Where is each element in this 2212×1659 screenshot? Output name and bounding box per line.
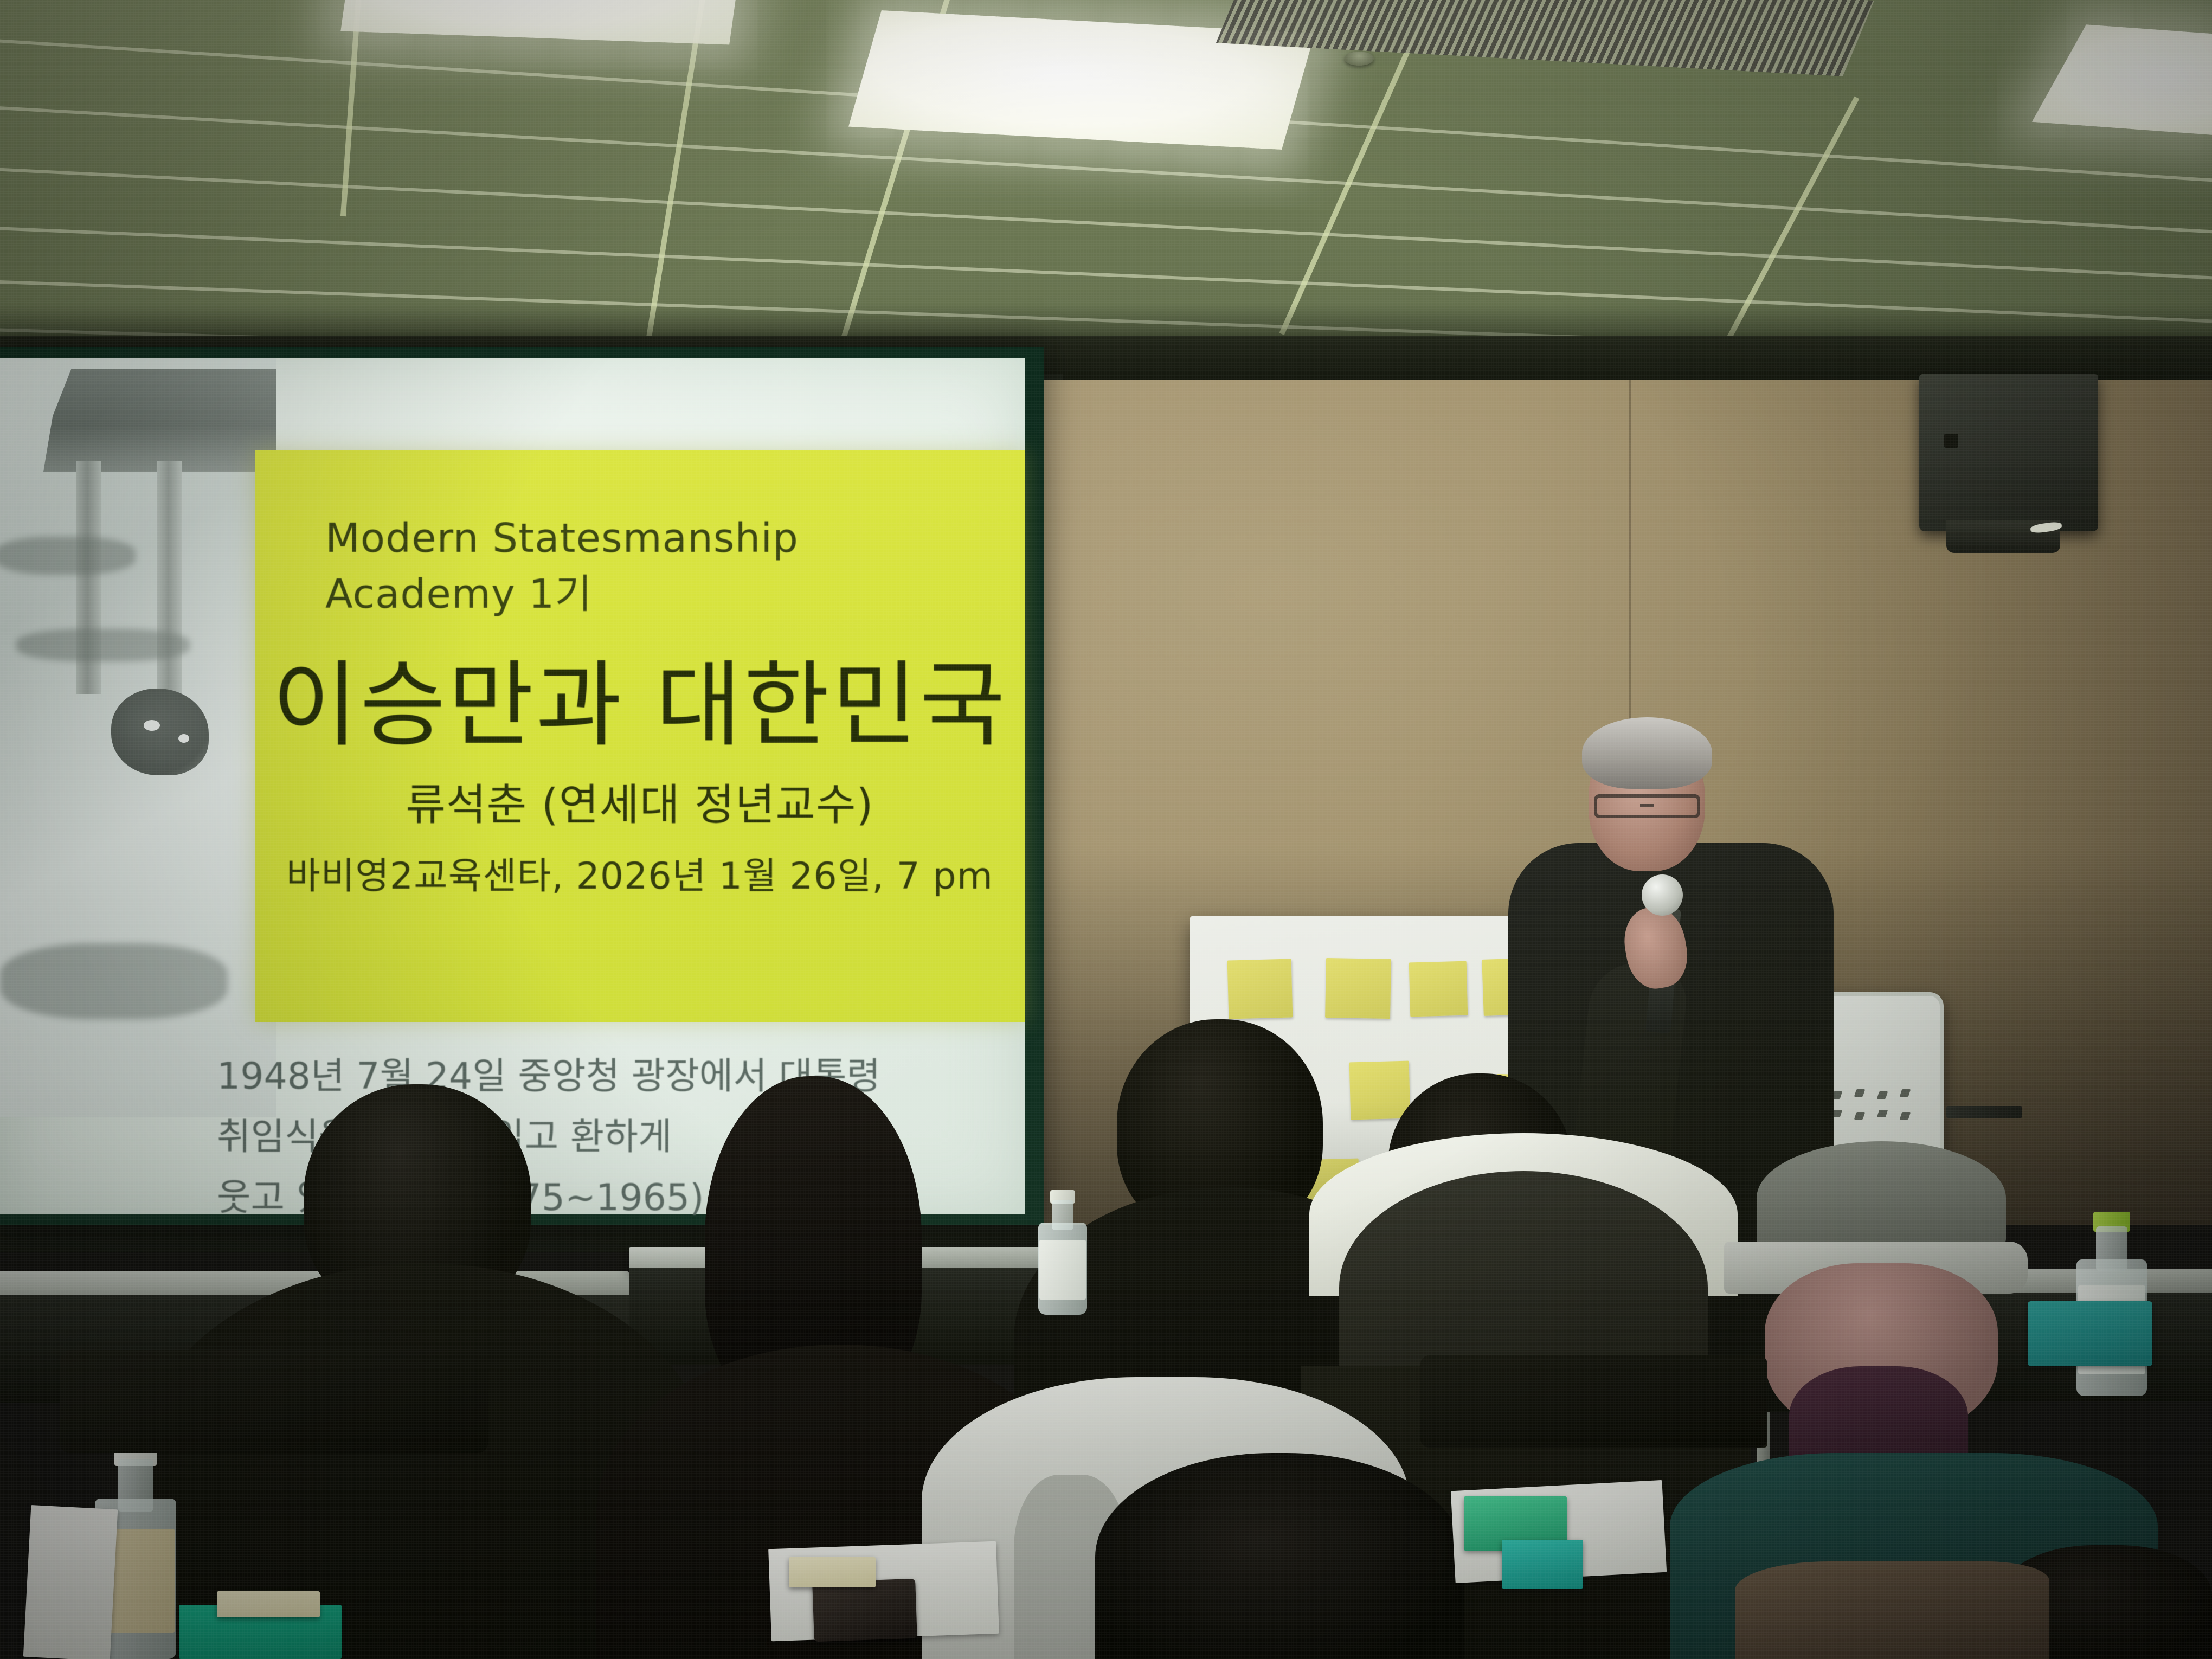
board-mark bbox=[1877, 1110, 1888, 1117]
photo-column bbox=[157, 461, 182, 694]
phone bbox=[812, 1579, 917, 1642]
speaker-hair bbox=[1582, 717, 1712, 789]
slide-title-text: 이승만과 대한민국 bbox=[255, 629, 1025, 764]
bottle-label bbox=[1039, 1240, 1086, 1300]
pa-speaker-icon bbox=[1919, 374, 2098, 531]
paper-sheet bbox=[23, 1505, 118, 1659]
historical-photo bbox=[0, 358, 276, 1117]
cap-icon bbox=[1757, 1141, 2006, 1255]
photo-figure-highlight bbox=[178, 734, 189, 743]
speaker-grille bbox=[1944, 434, 1958, 448]
board-mark bbox=[1900, 1089, 1911, 1097]
smoke-detector-icon bbox=[1345, 52, 1374, 66]
chair-back bbox=[60, 1350, 488, 1453]
ceiling-light-panel bbox=[340, 0, 744, 45]
water-bottle-mid bbox=[1038, 1190, 1087, 1315]
photo-building bbox=[43, 369, 276, 472]
photo-figure-highlight bbox=[144, 720, 160, 731]
microphone-icon bbox=[1642, 874, 1683, 916]
attendee-head bbox=[1095, 1453, 1464, 1659]
bag bbox=[1735, 1561, 2049, 1659]
board-mark bbox=[1900, 1112, 1911, 1120]
sticky-note bbox=[789, 1557, 876, 1587]
drop-ceiling-grid bbox=[0, 0, 2212, 380]
slide-venue-text: 바비영2교육센타, 2026년 1월 26일, 7 pm bbox=[255, 846, 1025, 899]
ceiling-grid-line bbox=[0, 163, 2212, 288]
glasses-icon bbox=[1594, 794, 1700, 818]
photo-smudge bbox=[0, 537, 136, 575]
sticky-note bbox=[217, 1591, 320, 1617]
slide-eyebrow-text: Modern Statesmanship Academy 1기 bbox=[325, 515, 987, 620]
flipchart-arm bbox=[1946, 1106, 2022, 1118]
photo-smudge bbox=[16, 629, 190, 661]
ceiling-light-panel bbox=[2032, 24, 2212, 138]
photo-smudge bbox=[0, 943, 228, 1019]
slide-presenter-text: 류석춘 (연세대 정년교수) bbox=[255, 770, 1025, 833]
board-mark bbox=[1877, 1091, 1888, 1099]
teal-item bbox=[1502, 1540, 1583, 1589]
air-vent-grill bbox=[1216, 0, 1874, 76]
board-mark bbox=[1854, 1112, 1866, 1120]
teal-item bbox=[2028, 1301, 2152, 1366]
photo-figure bbox=[111, 689, 209, 775]
ceiling-grid-line bbox=[340, 0, 363, 216]
chair-back bbox=[1420, 1355, 1767, 1448]
board-mark bbox=[1854, 1089, 1866, 1097]
lecture-hall-scene: Modern Statesmanship Academy 1기 이승만과 대한민… bbox=[0, 0, 2212, 1659]
slide-title-box: Modern Statesmanship Academy 1기 이승만과 대한민… bbox=[255, 450, 1025, 1022]
